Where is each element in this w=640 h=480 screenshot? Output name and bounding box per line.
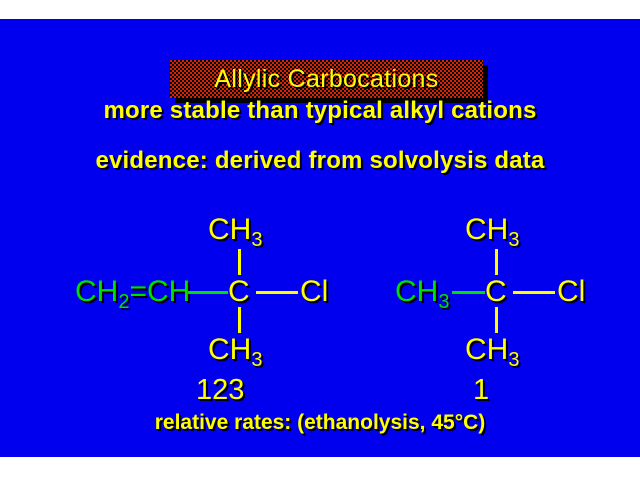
bond-center-top — [238, 249, 241, 275]
atom-chlorine: Cl — [557, 277, 585, 307]
structure-tert-butyl-chloride: CH3 CH3 C Cl CH3 — [350, 27, 640, 227]
bond-center-right — [256, 291, 298, 294]
bond-center-bottom — [495, 307, 498, 333]
atom-bottom-methyl: CH3 — [465, 335, 519, 365]
atom-central-carbon: C — [485, 277, 507, 307]
footer-caption: relative rates: (ethanolysis, 45°C) — [0, 412, 640, 433]
relative-rate-left: 123 — [196, 376, 244, 405]
atom-vinyl-group: CH2=CH — [75, 277, 190, 307]
atom-top-methyl: CH3 — [208, 215, 262, 245]
bond-center-bottom — [238, 307, 241, 333]
bond-center-right — [513, 291, 555, 294]
slide-canvas: Allylic Carbocations more stable than ty… — [0, 19, 640, 457]
bond-center-top — [495, 249, 498, 275]
atom-central-carbon: C — [228, 277, 250, 307]
bond-center-left — [452, 291, 485, 294]
relative-rate-right: 1 — [473, 376, 489, 405]
atom-bottom-methyl: CH3 — [208, 335, 262, 365]
bond-center-left — [188, 291, 228, 294]
atom-left-methyl: CH3 — [395, 277, 449, 307]
atom-chlorine: Cl — [300, 277, 328, 307]
atom-top-methyl: CH3 — [465, 215, 519, 245]
structure-allylic-chloride: CH3 CH2=CH C Cl CH3 — [60, 27, 360, 227]
